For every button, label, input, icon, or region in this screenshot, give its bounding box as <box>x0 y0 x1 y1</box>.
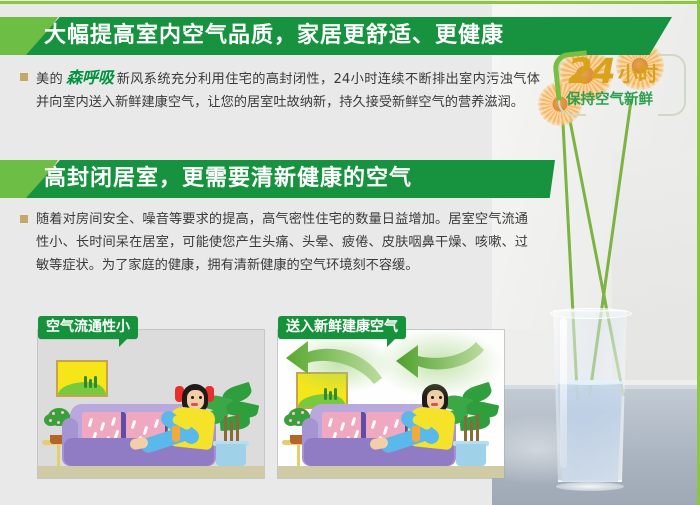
paragraph-bullet-marker <box>20 215 28 223</box>
cushion-pattern <box>371 420 377 429</box>
section-1-heading: 大幅提高室内空气品质，家居更舒适、更健康 <box>44 17 504 55</box>
plant-blossom <box>297 421 300 424</box>
section-1-paragraph: 美的森呼吸新风系统充分利用住宅的高封闭性，24小时连续不断排出室内污浊气体并向室… <box>0 66 540 114</box>
woman-drink <box>412 426 420 442</box>
panel-b-caption: 送入新鲜建康空气 <box>278 316 406 339</box>
section-2-banner: 高封闭居室，更需要清新健康的空气 <box>0 160 700 198</box>
twenty-four-hour-badge: 24 小时 保持空气新鲜 <box>556 52 688 114</box>
side-table-leg <box>57 444 60 466</box>
room-floor <box>38 466 264 478</box>
section-2-heading: 高封闭居室，更需要清新健康的空气 <box>44 160 412 198</box>
section-2-paragraph-text: 随着对房间安全、噪音等要求的提高，高气密性住宅的数量日益增加。居室空气流通性小、… <box>0 208 528 277</box>
panel-a-caption: 空气流通性小 <box>38 316 138 339</box>
cushion-pattern <box>328 418 334 427</box>
cushion-pattern <box>100 422 106 431</box>
plant-blossom <box>52 412 55 415</box>
picture-hill <box>58 382 106 395</box>
room-illustration-a <box>38 330 264 478</box>
glass-base <box>556 482 624 491</box>
cushion-pattern <box>111 417 117 426</box>
cushion-pattern <box>131 420 137 429</box>
side-table-leg <box>297 444 300 466</box>
palm-trunk <box>476 414 479 444</box>
woman-mouth <box>191 403 198 406</box>
reclining-woman <box>142 384 228 462</box>
glass-highlight <box>560 318 567 468</box>
plant-blossom <box>289 419 292 422</box>
arrow-right <box>396 342 484 378</box>
woman-drink <box>172 426 180 442</box>
section-1-paragraph-text: 美的森呼吸新风系统充分利用住宅的高封闭性，24小时连续不断排出室内污浊气体并向室… <box>0 66 540 114</box>
paragraph-bullet-marker <box>20 73 28 81</box>
room-illustration-b <box>278 330 504 478</box>
badge-unit: 小时 <box>618 58 658 90</box>
wall-picture-frame <box>56 360 108 397</box>
illustration-panels: 空气流通性小 <box>0 316 540 491</box>
plant-blossom <box>57 421 60 424</box>
panel-fresh-air: 送入新鲜建康空气 <box>278 330 504 478</box>
brochure-page: 24 小时 保持空气新鲜 大幅提高室内空气品质，家居更舒适、更健康 美的森呼吸新… <box>0 0 700 505</box>
content-column: 大幅提高室内空气品质，家居更舒适、更健康 美的森呼吸新风系统充分利用住宅的高封闭… <box>0 0 540 505</box>
woman-eye <box>191 396 194 399</box>
senhuxi-brand-logo: 森呼吸 <box>63 68 117 87</box>
picture-tree <box>84 376 87 388</box>
badge-bracket-right <box>658 54 686 116</box>
panel-poor-airflow: 空气流通性小 <box>38 330 264 478</box>
drinking-glass <box>544 310 636 488</box>
cushion-pattern <box>340 422 346 431</box>
plant-blossom <box>292 412 295 415</box>
badge-subtitle: 保持空气新鲜 <box>566 88 653 109</box>
picture-tree <box>94 376 97 388</box>
top-accent-rule <box>0 1 700 4</box>
woman-eye <box>199 396 202 399</box>
plant-blossom <box>49 419 52 422</box>
cushion-pattern <box>351 417 357 426</box>
paragraph-lead-text: 美的 <box>36 72 63 87</box>
arrow-left <box>286 341 382 384</box>
picture-tree <box>89 379 92 388</box>
room-floor <box>278 466 504 478</box>
cushion-pattern <box>88 418 94 427</box>
section-2-paragraph: 随着对房间安全、噪音等要求的提高，高气密性住宅的数量日益增加。居室空气流通性小、… <box>0 208 528 277</box>
palm-trunk <box>236 414 239 444</box>
